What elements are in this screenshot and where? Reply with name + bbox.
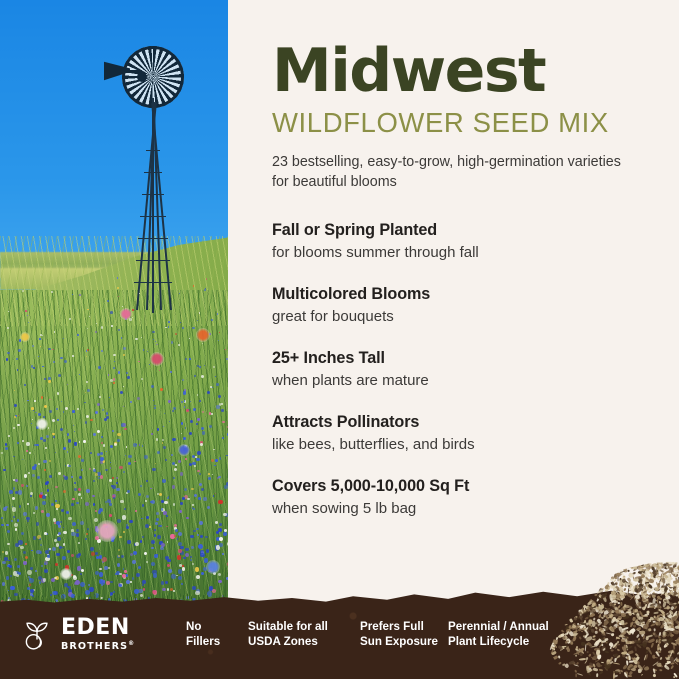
- trademark-symbol: ®: [128, 640, 135, 647]
- page-title: Midwest: [272, 42, 657, 101]
- feature-item: Covers 5,000-10,000 Sq Ft when sowing 5 …: [272, 476, 657, 518]
- brand-feature-bar: EDEN BROTHERS® No Fillers Suitable for a…: [0, 589, 679, 679]
- feature-item: Multicolored Blooms great for bouquets: [272, 284, 657, 326]
- feature-title: Fall or Spring Planted: [272, 220, 657, 240]
- feature-subtitle: like bees, butterflies, and birds: [272, 436, 657, 455]
- wildflower-meadow-photo: [0, 0, 228, 612]
- windmill-hub: [137, 72, 147, 82]
- feature-list: Fall or Spring Planted for blooms summer…: [272, 220, 657, 518]
- product-tagline: 23 bestselling, easy-to-grow, high-germi…: [272, 152, 624, 193]
- wildflower-blooms: [0, 268, 228, 612]
- soil-feature-no-fillers: No Fillers: [186, 619, 248, 650]
- windmill-rung: [140, 216, 166, 217]
- windmill-rung: [144, 172, 162, 173]
- feature-subtitle: for blooms summer through fall: [272, 244, 657, 263]
- feature-subtitle: great for bouquets: [272, 308, 657, 327]
- feature-title: Covers 5,000-10,000 Sq Ft: [272, 476, 657, 496]
- product-info-card: Midwest WILDFLOWER SEED MIX 23 bestselli…: [0, 0, 679, 679]
- feature-title: Multicolored Blooms: [272, 284, 657, 304]
- seedling-sprout-icon: [20, 617, 54, 651]
- feature-subtitle: when sowing 5 lb bag: [272, 500, 657, 519]
- windmill-rung: [142, 194, 164, 195]
- windmill-tail-arm: [126, 70, 142, 73]
- feature-item: Attracts Pollinators like bees, butterfl…: [272, 412, 657, 454]
- logo-wordmark: EDEN BROTHERS®: [61, 617, 135, 652]
- windmill-rung: [138, 238, 168, 239]
- logo-primary-name: EDEN: [61, 617, 135, 639]
- feature-item: Fall or Spring Planted for blooms summer…: [272, 220, 657, 262]
- feature-subtitle: when plants are mature: [272, 372, 657, 391]
- windmill-rung: [136, 260, 170, 261]
- soil-feature-lifecycle: Perennial / Annual Plant Lifecycle: [448, 619, 568, 650]
- eden-brothers-logo[interactable]: EDEN BROTHERS®: [20, 617, 150, 652]
- soil-feature-sun-exposure: Prefers Full Sun Exposure: [360, 619, 448, 650]
- feature-title: Attracts Pollinators: [272, 412, 657, 432]
- windmill-rung: [146, 150, 160, 151]
- soil-feature-usda-zones: Suitable for all USDA Zones: [248, 619, 360, 650]
- product-subtitle: WILDFLOWER SEED MIX: [272, 107, 657, 139]
- feature-item: 25+ Inches Tall when plants are mature: [272, 348, 657, 390]
- logo-secondary-name: BROTHERS®: [61, 641, 135, 652]
- feature-title: 25+ Inches Tall: [272, 348, 657, 368]
